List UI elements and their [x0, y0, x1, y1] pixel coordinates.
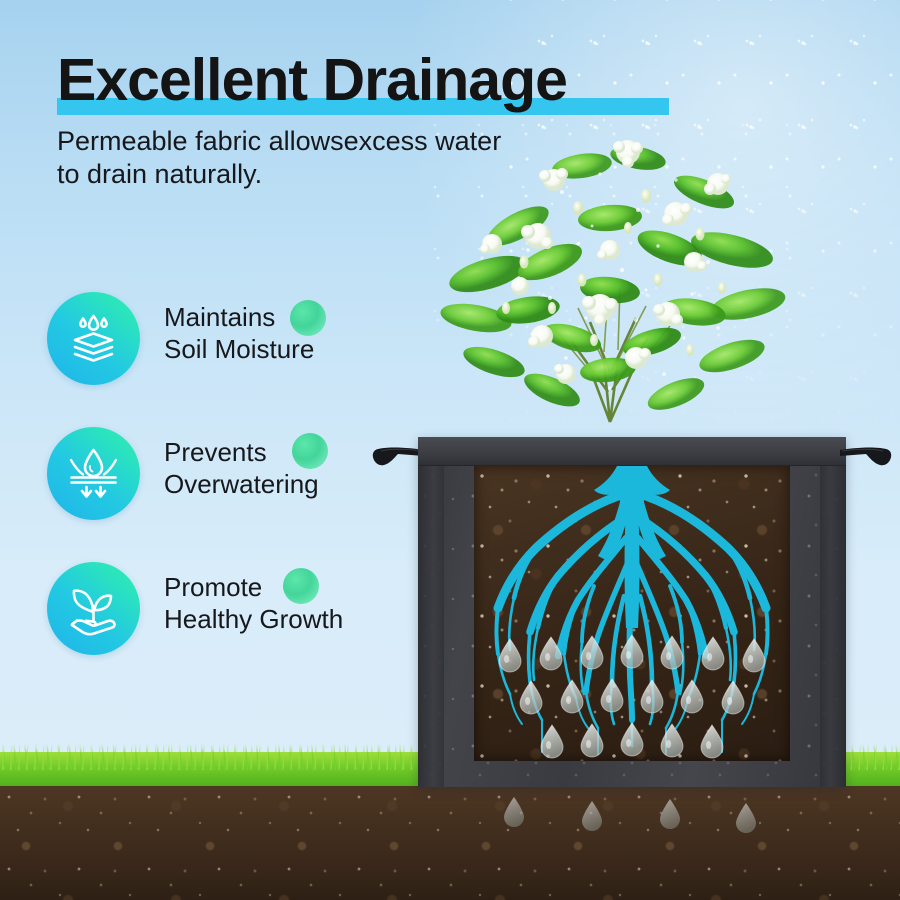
bag-handle-right: [840, 446, 892, 476]
bag-top-rim: [418, 437, 846, 466]
feature-label: Maintains Soil Moisture: [164, 301, 314, 365]
bag-cutaway-overlay: [474, 466, 790, 761]
feature-list: Maintains Soil Moisture Prevents Overw: [47, 292, 387, 697]
subtitle-text: Permeable fabric allowsexcess water to d…: [57, 125, 527, 191]
feature-item-promote-healthy-growth[interactable]: Promote Healthy Growth: [47, 562, 387, 697]
page-title: Excellent Drainage: [57, 49, 567, 111]
bag-right-wall: [820, 437, 846, 787]
feature-item-prevents-overwatering[interactable]: Prevents Overwatering: [47, 427, 387, 562]
feature-label: Promote Healthy Growth: [164, 571, 343, 635]
title-text: Excellent Drainage: [57, 49, 567, 111]
below-bag-droplets: [474, 795, 794, 865]
feature-icon-badge: [47, 292, 140, 385]
infographic-canvas: Excellent Drainage Permeable fabric allo…: [0, 0, 900, 900]
bag-left-wall: [418, 437, 444, 787]
drainage-droplets-icon: [474, 466, 790, 761]
grow-bag-illustration: [418, 437, 846, 787]
feature-item-maintains-soil-moisture[interactable]: Maintains Soil Moisture: [47, 292, 387, 427]
feature-label: Prevents Overwatering: [164, 436, 319, 500]
feature-icon-badge: [47, 427, 140, 520]
bag-handle-left: [372, 446, 424, 476]
feature-icon-badge: [47, 562, 140, 655]
